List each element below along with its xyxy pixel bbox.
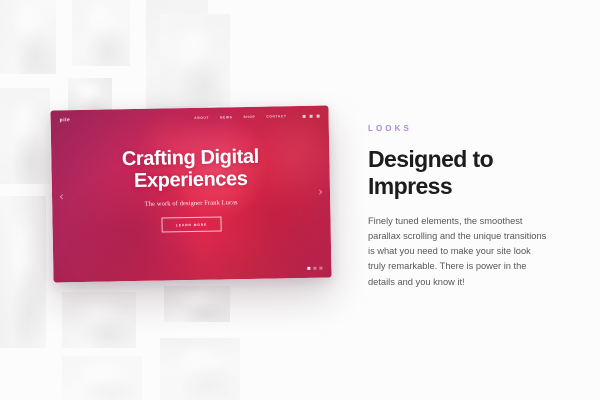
mockup-headline: Crafting Digital Experiences xyxy=(75,146,306,193)
tile-street xyxy=(72,0,130,66)
tile-portrait-up xyxy=(0,88,50,184)
mockup-social-links xyxy=(303,114,320,117)
website-mockup-card[interactable]: pile ABOUT NEWS SHOP CONTACT Crafting Di… xyxy=(50,105,331,282)
text-panel: LOOKS Designed to Impress Finely tuned e… xyxy=(368,124,550,290)
tile-interior xyxy=(160,338,240,400)
carousel-pagination xyxy=(307,267,322,270)
panel-body-text: Finely tuned elements, the smoothest par… xyxy=(368,214,550,289)
mockup-nav-menu: ABOUT NEWS SHOP CONTACT xyxy=(194,114,286,120)
section-eyebrow: LOOKS xyxy=(368,124,550,133)
tile-wood xyxy=(0,196,46,348)
twitter-icon[interactable] xyxy=(310,114,313,117)
nav-item-shop[interactable]: SHOP xyxy=(243,115,255,119)
mockup-subtitle: The work of designer Frank Lucas xyxy=(76,198,306,209)
tile-lying xyxy=(164,286,230,322)
nav-item-news[interactable]: NEWS xyxy=(220,115,232,119)
carousel-dot-1[interactable] xyxy=(307,267,310,270)
tile-seated xyxy=(62,292,136,348)
mockup-logo[interactable]: pile xyxy=(60,117,71,123)
tile-bride xyxy=(0,0,56,74)
page-title: Designed to Impress xyxy=(368,146,550,199)
tile-graffiti xyxy=(62,356,142,400)
carousel-dot-2[interactable] xyxy=(313,267,316,270)
carousel-next-icon[interactable]: › xyxy=(318,186,323,198)
carousel-dot-3[interactable] xyxy=(319,267,322,270)
learn-more-button[interactable]: LEARN MORE xyxy=(161,217,221,233)
mockup-hero-copy: Crafting Digital Experiences The work of… xyxy=(51,145,330,234)
nav-item-contact[interactable]: CONTACT xyxy=(266,114,286,118)
facebook-icon[interactable] xyxy=(303,114,306,117)
instagram-icon[interactable] xyxy=(317,114,320,117)
carousel-prev-icon[interactable]: ‹ xyxy=(59,190,64,202)
tile-woman-hair xyxy=(160,14,230,106)
nav-item-about[interactable]: ABOUT xyxy=(194,116,209,120)
